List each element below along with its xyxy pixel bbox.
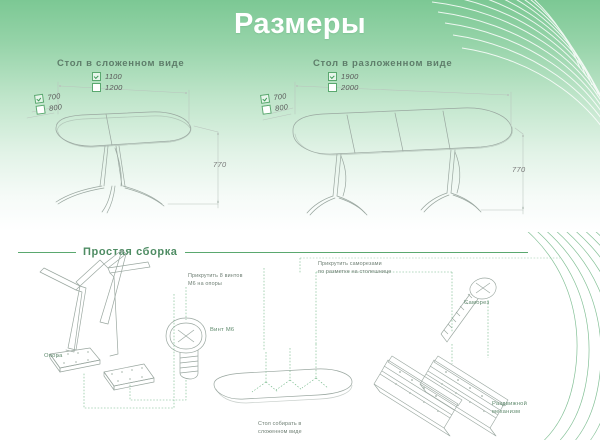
support-legs-drawing xyxy=(40,250,154,390)
checkbox-empty-icon[interactable] xyxy=(92,83,101,92)
option-row[interactable]: 800 xyxy=(36,102,63,115)
option-value: 2000 xyxy=(341,83,359,92)
folded-table-diagram xyxy=(22,68,237,216)
note-screws: Прикрутить саморезами по разметке на сто… xyxy=(318,260,391,276)
option-value: 700 xyxy=(273,91,287,102)
tabletop-assembly-drawing xyxy=(214,369,352,403)
option-row[interactable]: 1100 xyxy=(92,72,123,81)
label-support: Опора xyxy=(44,352,63,360)
label-mechanism: Раздвижной механизм xyxy=(492,400,527,417)
checkbox-empty-icon[interactable] xyxy=(262,105,272,115)
slide-rail-right-drawing xyxy=(420,356,508,436)
option-value: 800 xyxy=(274,102,288,113)
option-row[interactable]: 2000 xyxy=(328,83,359,92)
connector-guides xyxy=(84,258,560,408)
extended-height-label: 770 xyxy=(512,165,525,174)
checkbox-empty-icon[interactable] xyxy=(328,83,337,92)
poster-page: Размеры Стол в сложенном виде Стол в раз… xyxy=(0,0,600,440)
folded-height-label: 770 xyxy=(213,160,226,169)
option-value: 1100 xyxy=(105,72,122,81)
note-fold: Стол собирать в сложенном виде xyxy=(258,420,302,436)
extended-width-options: 1900 2000 xyxy=(328,72,359,94)
note-bolts: Прикрутить 8 винтов М6 на опоры xyxy=(188,272,243,288)
option-value: 1900 xyxy=(341,72,359,81)
checkbox-empty-icon[interactable] xyxy=(36,105,46,115)
label-bolt: Винт М6 xyxy=(210,326,234,334)
option-row[interactable]: 1200 xyxy=(92,83,123,92)
option-value: 700 xyxy=(47,91,61,102)
checkbox-checked-icon[interactable] xyxy=(92,72,101,81)
folded-width-options: 1100 1200 xyxy=(92,72,123,94)
checkbox-checked-icon[interactable] xyxy=(328,72,337,81)
option-row[interactable]: 1900 xyxy=(328,72,359,81)
option-value: 1200 xyxy=(105,83,123,92)
label-screw: Саморез xyxy=(464,299,489,307)
slide-rail-left-drawing xyxy=(374,356,462,436)
option-value: 800 xyxy=(48,102,62,113)
checkbox-checked-icon[interactable] xyxy=(34,94,44,104)
bolt-m6-drawing xyxy=(166,318,206,379)
extended-depth-options: 700 800 xyxy=(260,91,289,116)
extended-table-diagram xyxy=(255,68,530,218)
tabletop-guide-lines xyxy=(252,344,328,392)
option-row[interactable]: 800 xyxy=(262,102,289,115)
page-title: Размеры xyxy=(0,8,600,41)
assembly-section: Простая сборка xyxy=(0,232,600,440)
folded-depth-options: 700 800 xyxy=(34,91,63,116)
checkbox-checked-icon[interactable] xyxy=(260,94,270,104)
